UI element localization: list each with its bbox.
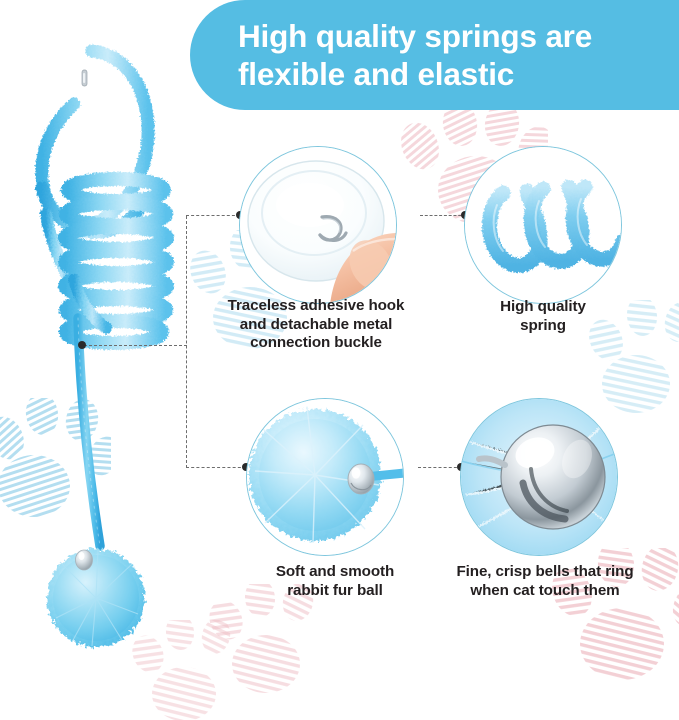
page-title: High quality springs areflexible and ela… — [238, 17, 592, 94]
header-banner: High quality springs areflexible and ela… — [190, 0, 679, 110]
fur-ball-caption: Soft and smooth rabbit fur ball — [235, 563, 435, 600]
adhesive-hook-photo — [239, 146, 397, 304]
spring-photo — [464, 146, 622, 304]
connector-bracket-top-arm — [186, 215, 240, 216]
page-title-line-1: High quality springs are — [238, 18, 592, 54]
adhesive-hook-caption: Traceless adhesive hook and detachable m… — [206, 297, 426, 353]
product-photo — [0, 18, 200, 668]
product-straight-cord — [78, 318, 100, 546]
connector-bracket-bottom-arm — [186, 467, 246, 468]
product-bell-icon — [76, 550, 93, 570]
connector-bracket-vertical — [186, 216, 187, 468]
bell-photo — [460, 398, 618, 556]
bell-caption: Fine, crisp bells that ring when cat tou… — [430, 563, 660, 600]
spring-caption: High quality spring — [453, 298, 633, 335]
page-title-line-2: flexible and elastic — [238, 56, 514, 92]
connector-product-arm — [84, 345, 187, 346]
product-pompom-ball — [47, 549, 145, 647]
connector-bottom-right-arm — [418, 467, 462, 468]
connector-node-product — [78, 341, 86, 349]
fur-ball-photo — [246, 398, 404, 556]
infographic-canvas: High quality springs areflexible and ela… — [0, 0, 679, 679]
connector-top-right-arm — [420, 215, 466, 216]
metal-clasp-icon — [82, 70, 87, 86]
